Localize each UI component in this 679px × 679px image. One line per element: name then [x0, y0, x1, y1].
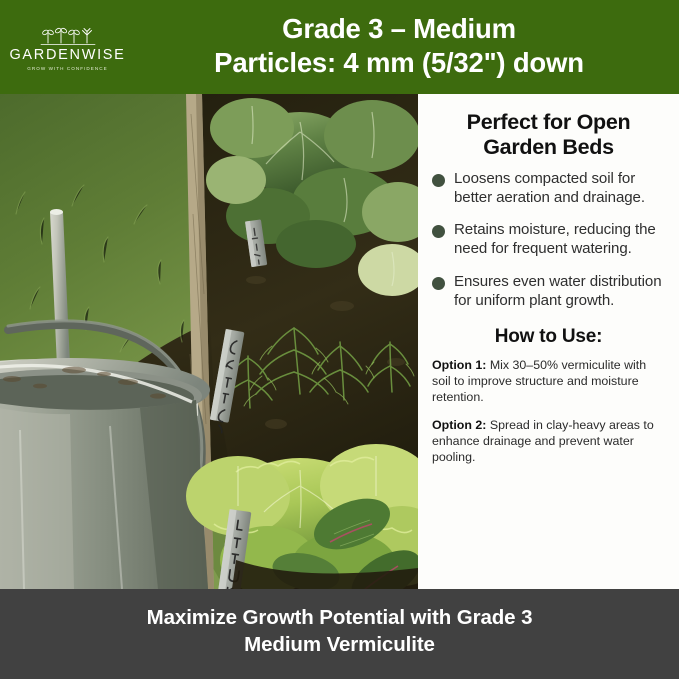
- header-title-line2: Particles: 4 mm (5/32") down: [135, 46, 663, 80]
- footer-text: Maximize Growth Potential with Grade 3 M…: [147, 604, 533, 664]
- usage-option: Option 1: Mix 30–50% vermiculite with so…: [432, 357, 665, 405]
- brand-tagline: GROW WITH CONFIDENCE: [27, 66, 107, 71]
- sprout-plants-icon: [39, 25, 97, 47]
- footer-text-line1: Maximize Growth Potential with Grade 3: [147, 606, 533, 629]
- benefit-text: Ensures even water distribution for unif…: [454, 272, 665, 310]
- list-item: Retains moisture, reducing the need for …: [432, 220, 665, 258]
- bullet-dot-icon: [432, 277, 445, 290]
- bullet-dot-icon: [432, 225, 445, 238]
- howto-heading: How to Use:: [432, 326, 665, 348]
- garden-photo-illustration: [0, 94, 418, 589]
- list-item: Loosens compacted soil for better aerati…: [432, 169, 665, 207]
- usage-option-label: Option 2:: [432, 418, 486, 432]
- benefits-panel: Perfect for Open Garden Beds Loosens com…: [418, 94, 679, 589]
- benefit-text: Retains moisture, reducing the need for …: [454, 220, 665, 258]
- panel-heading: Perfect for Open Garden Beds: [432, 110, 665, 160]
- list-item: Ensures even water distribution for unif…: [432, 272, 665, 310]
- brand-logo: GARDENWISE GROW WITH CONFIDENCE: [0, 23, 135, 72]
- panel-heading-line1: Perfect for Open: [467, 110, 631, 134]
- usage-option: Option 2: Spread in clay-heavy areas to …: [432, 417, 665, 465]
- footer-text-line2: Medium Vermiculite: [147, 631, 533, 658]
- benefit-list: Loosens compacted soil for better aerati…: [432, 169, 665, 310]
- footer-banner: Maximize Growth Potential with Grade 3 M…: [0, 589, 679, 679]
- bullet-dot-icon: [432, 174, 445, 187]
- brand-name: GARDENWISE: [9, 48, 125, 64]
- header-title-line1: Grade 3 – Medium: [282, 13, 516, 44]
- benefit-text: Loosens compacted soil for better aerati…: [454, 169, 665, 207]
- usage-option-label: Option 1:: [432, 358, 486, 372]
- header-title: Grade 3 – Medium Particles: 4 mm (5/32")…: [135, 12, 679, 82]
- garden-photo: [0, 94, 418, 589]
- product-infographic: GARDENWISE GROW WITH CONFIDENCE Grade 3 …: [0, 0, 679, 679]
- panel-heading-line2: Garden Beds: [483, 135, 614, 159]
- header-banner: GARDENWISE GROW WITH CONFIDENCE Grade 3 …: [0, 0, 679, 94]
